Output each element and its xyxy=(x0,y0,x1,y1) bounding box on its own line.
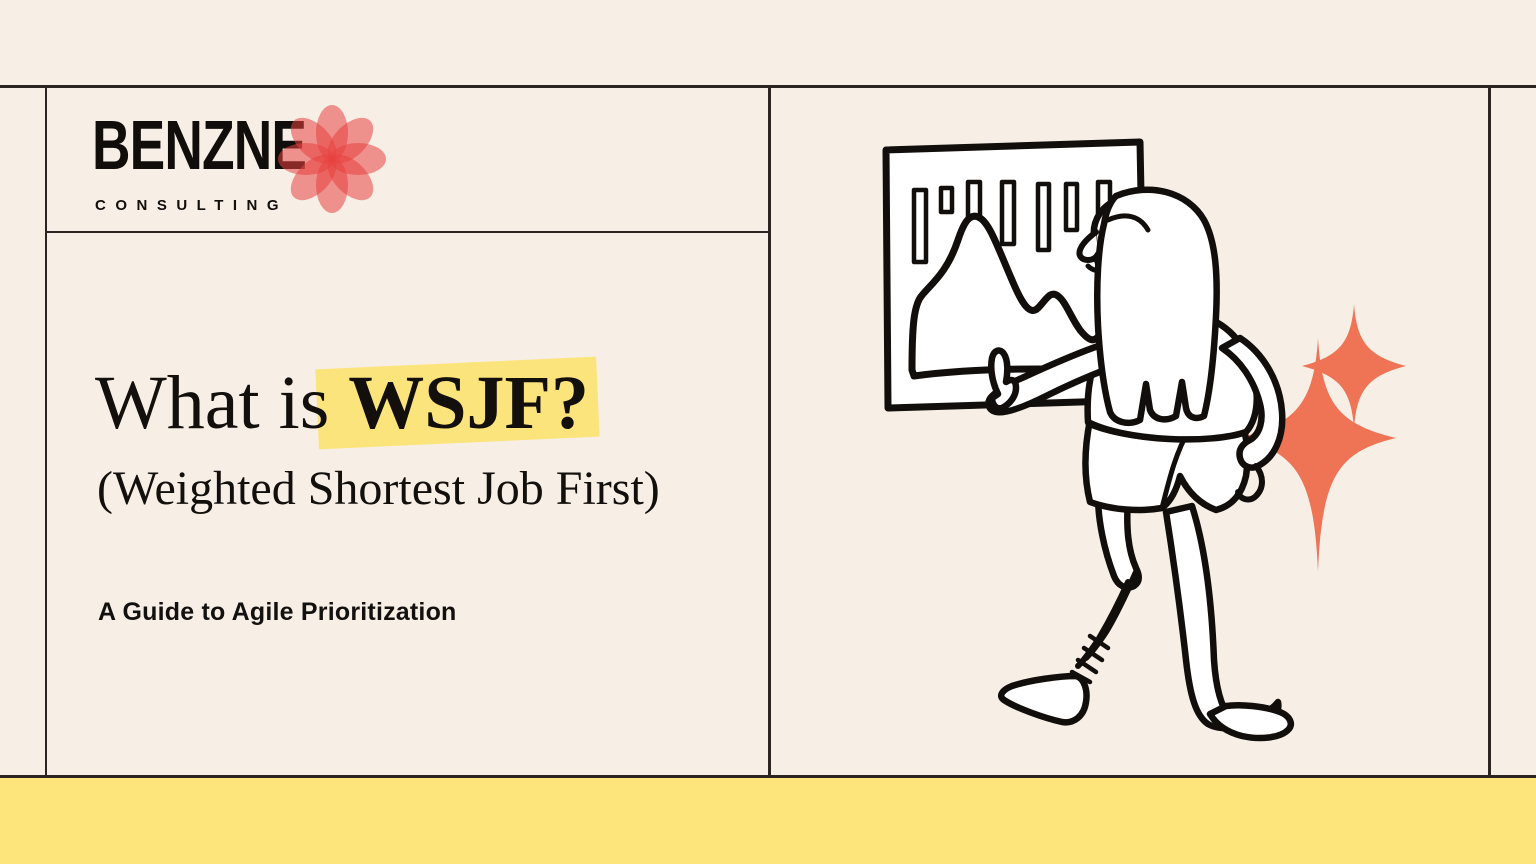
brand-wordmark: BENZNE xyxy=(92,112,306,181)
lotus-flower-icon xyxy=(277,104,387,214)
woman-presenting-chart-illustration xyxy=(840,120,1460,760)
page-title: What is WSJF? xyxy=(95,355,589,451)
headline-lead: What is xyxy=(95,361,348,445)
brand-descriptor: CONSULTING xyxy=(95,197,288,214)
headline-subtitle: (Weighted Shortest Job First) xyxy=(97,460,660,518)
headline-block: What is WSJF? (Weighted Shortest Job Fir… xyxy=(95,355,735,535)
rule-left-vertical xyxy=(45,88,47,777)
kicker-text: A Guide to Agile Prioritization xyxy=(98,598,457,627)
slide-canvas: BENZNE CONSULTING xyxy=(0,0,1536,864)
headline-acronym: WSJF? xyxy=(348,361,589,445)
footer-accent-band xyxy=(0,778,1536,864)
rule-center-vertical xyxy=(768,88,771,777)
rule-logo-underline xyxy=(45,231,769,233)
rule-right-vertical xyxy=(1488,88,1491,777)
brand-logo: BENZNE CONSULTING xyxy=(92,112,392,217)
